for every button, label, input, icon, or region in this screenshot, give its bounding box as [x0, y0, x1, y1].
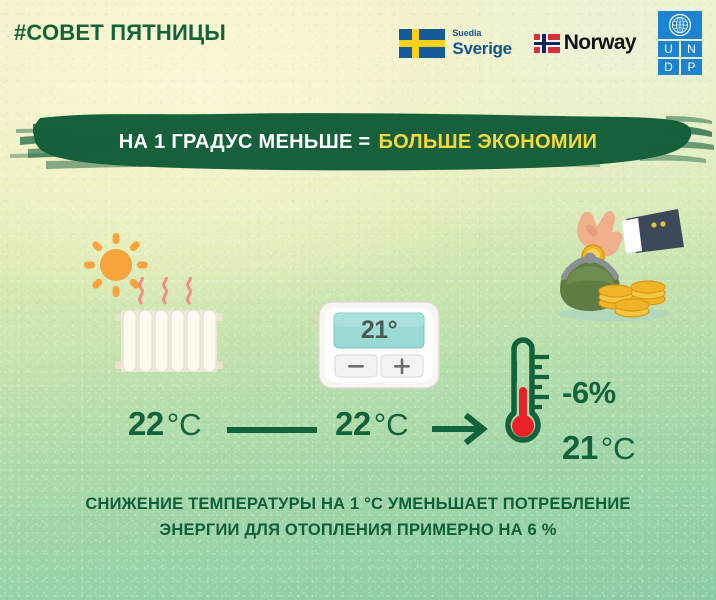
- temperature-middle: 22 °C: [335, 405, 409, 451]
- radiator-icon: [113, 277, 225, 377]
- undp-letter-n: N: [681, 41, 702, 57]
- headline-banner-text: НА 1 ГРАДУС МЕНЬШЕ = БОЛЬШЕ ЭКОНОМИИ: [0, 104, 716, 180]
- headline-part-white: НА 1 ГРАДУС МЕНЬШЕ =: [119, 131, 371, 154]
- headline-banner: НА 1 ГРАДУС МЕНЬШЕ = БОЛЬШЕ ЭКОНОМИИ: [0, 104, 716, 180]
- connector-line: [227, 427, 317, 433]
- footer-line-1: СНИЖЕНИЕ ТЕМПЕРАТУРЫ НА 1 °С УМЕНЬШАЕТ П…: [0, 492, 716, 518]
- arrow-right-icon: [432, 413, 494, 445]
- norway-flag-icon: [534, 34, 560, 53]
- norway-logo: Norway: [534, 31, 636, 55]
- purse-with-coins-icon: $: [552, 203, 688, 323]
- sweden-logo-small-word: Suedia: [452, 29, 511, 38]
- sweden-logo-words: Suedia Sverige: [452, 29, 511, 57]
- page-title: #СОВЕТ ПЯТНИЦЫ: [14, 20, 226, 46]
- infographic-poster: #СОВЕТ ПЯТНИЦЫ Suedia Sverige: [0, 0, 716, 600]
- sweden-flag-icon: [399, 29, 445, 58]
- temperature-left-unit: °C: [167, 407, 202, 443]
- temperature-row: 22 °C 22 °C -6% 21 °C: [0, 405, 716, 455]
- temperature-right-unit: °C: [601, 431, 636, 467]
- sweden-logo-big-word: Sverige: [452, 40, 511, 57]
- temperature-right-value: 21: [562, 429, 598, 467]
- thermostat-display-value: 21°: [334, 313, 424, 348]
- logo-strip: Suedia Sverige Norway: [399, 12, 702, 74]
- thermostat-icon[interactable]: 21°: [317, 300, 441, 390]
- footer-line-2: ЭНЕРГИИ ДЛЯ ОТОПЛЕНИЯ ПРИМЕРНО НА 6 %: [0, 518, 716, 544]
- heat-waves: [140, 277, 191, 303]
- sweden-logo: Suedia Sverige: [399, 29, 511, 58]
- temperature-left: 22 °C: [128, 405, 202, 451]
- un-emblem-icon: [658, 11, 702, 39]
- undp-logo: U N D P: [658, 11, 702, 75]
- temperature-middle-value: 22: [335, 405, 371, 443]
- savings-percent-label: -6%: [562, 375, 616, 411]
- undp-letter-u: U: [658, 41, 679, 57]
- footer-message: СНИЖЕНИЕ ТЕМПЕРАТУРЫ НА 1 °С УМЕНЬШАЕТ П…: [0, 492, 716, 543]
- undp-letter-p: P: [681, 59, 702, 75]
- poster-header: #СОВЕТ ПЯТНИЦЫ Suedia Sverige: [0, 0, 716, 90]
- undp-letter-grid: U N D P: [658, 41, 702, 75]
- temperature-left-value: 22: [128, 405, 164, 443]
- undp-letter-d: D: [658, 59, 679, 75]
- norway-logo-word: Norway: [564, 31, 636, 55]
- temperature-right: 21 °C: [562, 429, 636, 475]
- temperature-middle-unit: °C: [374, 407, 409, 443]
- headline-part-yellow: БОЛЬШЕ ЭКОНОМИИ: [378, 131, 597, 154]
